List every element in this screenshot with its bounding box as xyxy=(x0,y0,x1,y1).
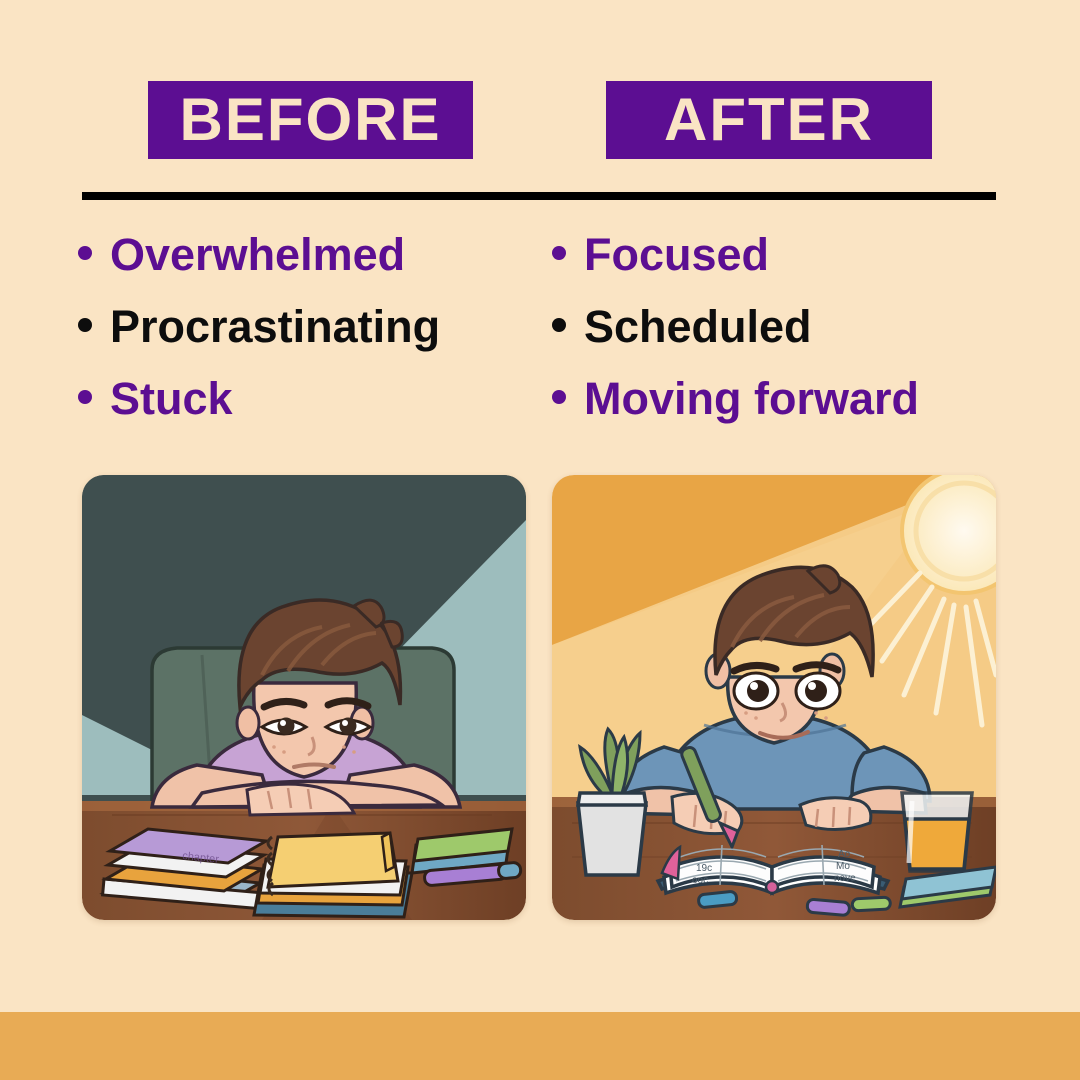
bullet-label: Moving forward xyxy=(584,376,919,421)
after-bullet-list: Focused Scheduled Moving forward xyxy=(552,232,1022,448)
list-item: Focused xyxy=(552,232,1022,304)
list-item: Moving forward xyxy=(552,376,1022,448)
bullet-dot-icon xyxy=(78,390,92,404)
before-bullet-list: Overwhelmed Procrastinating Stuck xyxy=(78,232,538,448)
svg-text:ooc: ooc xyxy=(692,875,708,886)
bullet-dot-icon xyxy=(552,318,566,332)
bullet-dot-icon xyxy=(78,246,92,260)
bullet-label: Focused xyxy=(584,232,769,277)
bullet-label: Overwhelmed xyxy=(110,232,405,277)
bullet-label: Scheduled xyxy=(584,304,812,349)
after-header-label: AFTER xyxy=(664,90,874,150)
after-illustration-card: 19c ooc Ao Mo nove xyxy=(552,475,996,920)
bullet-label: Procrastinating xyxy=(110,304,440,349)
list-item: Overwhelmed xyxy=(78,232,538,304)
list-item: Procrastinating xyxy=(78,304,538,376)
after-header-badge: AFTER xyxy=(606,81,932,159)
list-item: Stuck xyxy=(78,376,538,448)
after-illustration: 19c ooc Ao Mo nove xyxy=(552,475,996,920)
bullet-dot-icon xyxy=(552,390,566,404)
infographic-canvas: BEFORE AFTER Overwhelmed Procrastinating… xyxy=(0,0,1080,1080)
bullet-dot-icon xyxy=(78,318,92,332)
bullet-label: Stuck xyxy=(110,376,233,421)
svg-text:19c: 19c xyxy=(696,863,712,874)
before-illustration-card: chapter xyxy=(82,475,526,920)
before-header-label: BEFORE xyxy=(179,90,441,150)
header-divider-rule xyxy=(82,192,996,200)
svg-text:Mo: Mo xyxy=(836,861,850,872)
list-item: Scheduled xyxy=(552,304,1022,376)
before-illustration: chapter xyxy=(82,475,526,920)
before-header-badge: BEFORE xyxy=(148,81,473,159)
bullet-dot-icon xyxy=(552,246,566,260)
bottom-accent-band xyxy=(0,1012,1080,1080)
svg-text:nove: nove xyxy=(834,873,856,884)
svg-text:Ao: Ao xyxy=(838,849,851,860)
